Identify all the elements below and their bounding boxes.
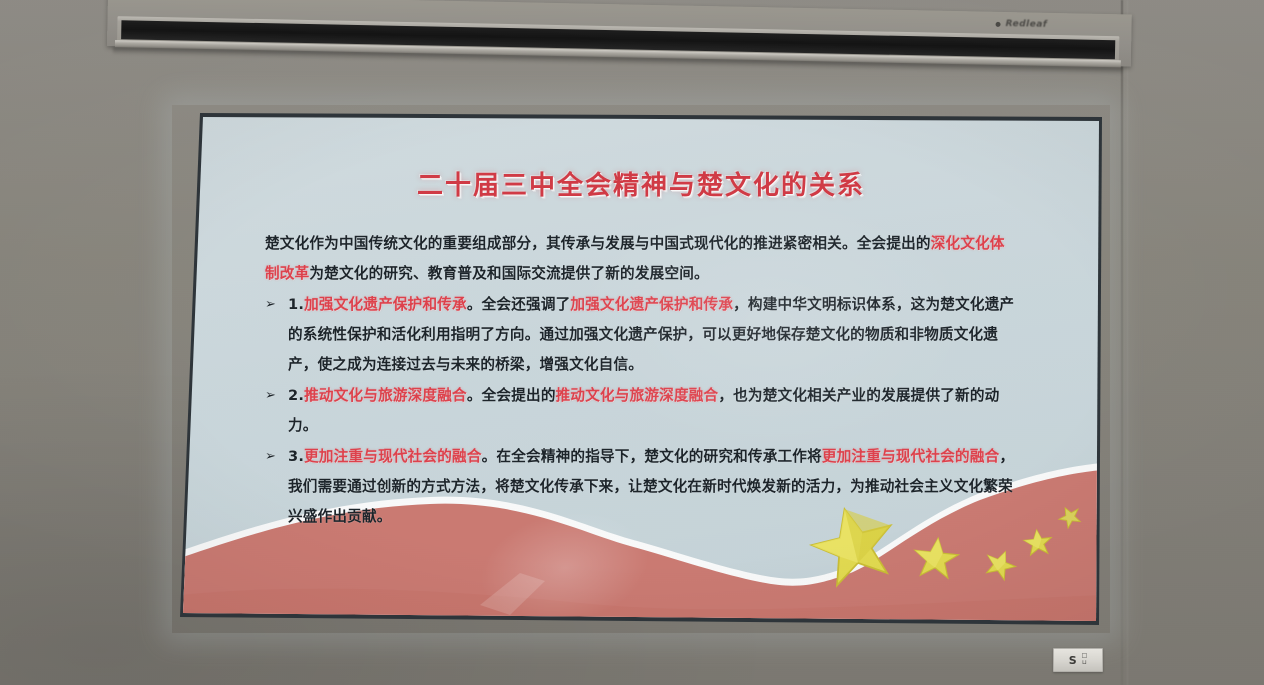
photo-scene: Redleaf — [0, 0, 1264, 685]
body-phrase: 。在全会精神的指导下，楚文化的研究和传承工作将 — [482, 448, 822, 465]
bullet-number: 2. — [288, 387, 304, 404]
slide-body: 楚文化作为中国传统文化的重要组成部分，其传承与发展与中国式现代化的推进紧密相关。… — [265, 229, 1015, 532]
intro-paragraph: 楚文化作为中国传统文化的重要组成部分，其传承与发展与中国式现代化的推进紧密相关。… — [265, 229, 1015, 289]
wall-plate-label: S □ ⊔ — [1053, 648, 1103, 672]
bullet-text: 更加注重与现代社会的融合。在全会精神的指导下，楚文化的研究和传承工作将更加注重与… — [288, 448, 1014, 525]
bullet-point-2: ➢ 2.推动文化与旅游深度融合。全会提出的推动文化与旅游深度融合，也为楚文化相关… — [265, 381, 1015, 441]
body-phrase: 。全会提出的 — [467, 387, 556, 404]
slide-title: 二十届三中全会精神与楚文化的关系 — [180, 165, 1102, 202]
highlighted-phrase: 更加注重与现代社会的融合 — [304, 448, 482, 465]
housing-brand-label: Redleaf — [995, 19, 1047, 30]
bullet-arrow-icon: ➢ — [265, 381, 276, 411]
body-phrase: 。全会还强调了 — [467, 296, 571, 313]
highlighted-phrase: 推动文化与旅游深度融合 — [304, 387, 467, 404]
highlighted-phrase: 加强文化遗产保护和传承 — [570, 296, 733, 313]
wall-seam-line — [1121, 0, 1123, 685]
body-phrase: 楚文化作为中国传统文化的重要组成部分，其传承与发展与中国式现代化的推进紧密相关。… — [265, 235, 931, 252]
brand-dot-icon — [996, 21, 1001, 26]
highlighted-phrase: 推动文化与旅游深度融合 — [556, 387, 719, 404]
bullet-number: 1. — [288, 296, 304, 313]
wall-plate-subglyph: □ ⊔ — [1082, 653, 1088, 666]
bullet-point-1: ➢ 1.加强文化遗产保护和传承。全会还强调了加强文化遗产保护和传承，构建中华文明… — [265, 290, 1015, 380]
wall-seam-highlight — [1127, 0, 1128, 685]
wall-plate-glyph: S — [1069, 655, 1077, 666]
slide-surface: 二十届三中全会精神与楚文化的关系 楚文化作为中国传统文化的重要组成部分，其传承与… — [180, 113, 1102, 625]
brand-name: Redleaf — [1005, 19, 1047, 30]
bullet-text: 加强文化遗产保护和传承。全会还强调了加强文化遗产保护和传承，构建中华文明标识体系… — [288, 296, 1014, 373]
body-phrase: 为楚文化的研究、教育普及和国际交流提供了新的发展空间。 — [309, 265, 708, 282]
projected-slide: 二十届三中全会精神与楚文化的关系 楚文化作为中国传统文化的重要组成部分，其传承与… — [180, 113, 1102, 625]
bullet-arrow-icon: ➢ — [265, 290, 276, 320]
bullet-point-3: ➢ 3.更加注重与现代社会的融合。在全会精神的指导下，楚文化的研究和传承工作将更… — [265, 442, 1015, 532]
highlighted-phrase: 更加注重与现代社会的融合 — [822, 448, 1000, 465]
bullet-arrow-icon: ➢ — [265, 442, 276, 472]
bullet-number: 3. — [288, 448, 304, 465]
highlighted-phrase: 加强文化遗产保护和传承 — [304, 296, 467, 313]
bullet-text: 推动文化与旅游深度融合。全会提出的推动文化与旅游深度融合，也为楚文化相关产业的发… — [288, 387, 999, 434]
